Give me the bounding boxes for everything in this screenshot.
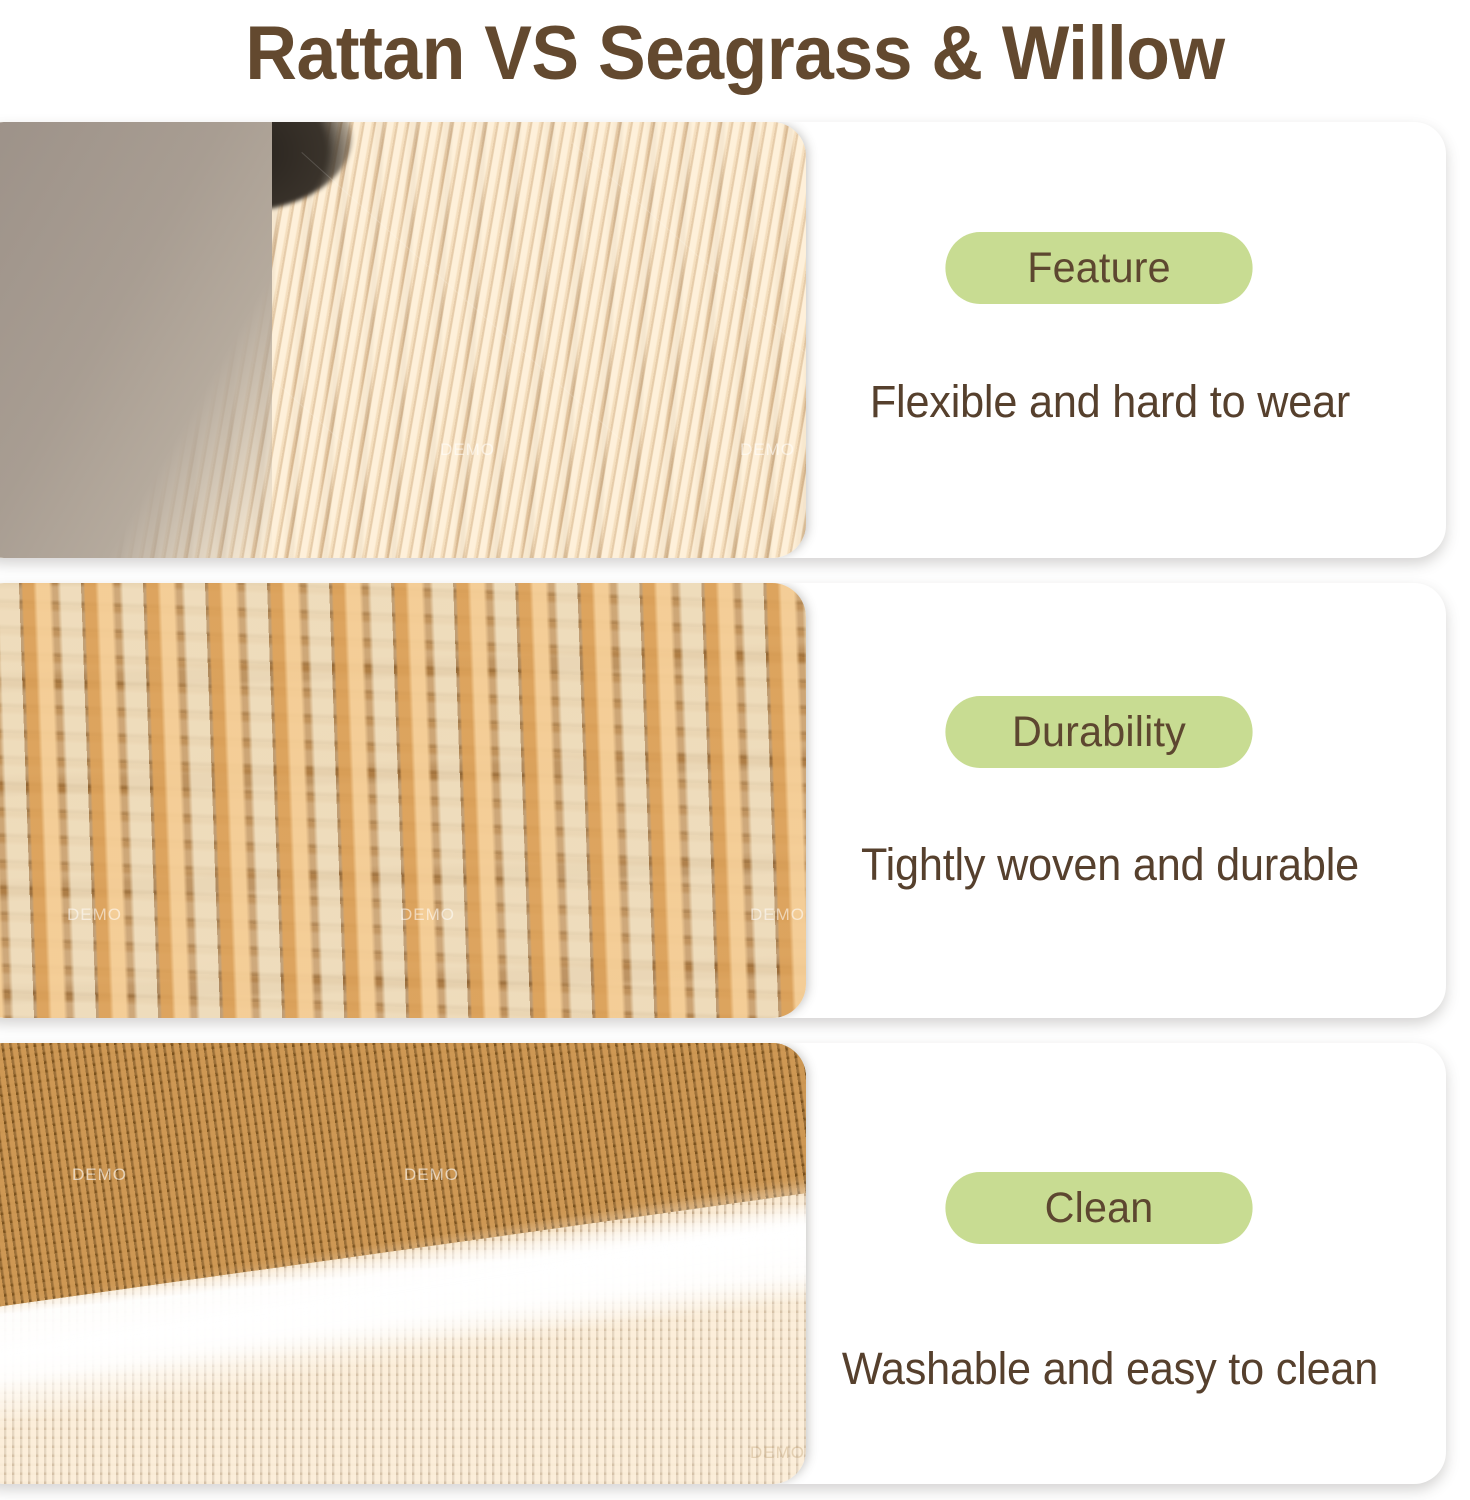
demo-watermark: DEMO	[740, 440, 795, 460]
comparison-card-durability: DEMO DEMO DEMO Durability Tightly woven …	[0, 583, 1446, 1018]
watermark-overlay: DEMO DEMO DEMO	[0, 1043, 806, 1484]
page-title: Rattan VS Seagrass & Willow	[44, 2, 1426, 106]
badge-clean: Clean	[945, 1172, 1252, 1244]
caption-feature: Flexible and hard to wear	[818, 376, 1402, 428]
demo-watermark: DEMO	[90, 440, 145, 460]
watermark-diagonal	[301, 152, 621, 440]
demo-watermark: DEMO	[67, 905, 122, 925]
badge-durability: Durability	[945, 696, 1252, 768]
watermark-diagonal	[571, 142, 806, 430]
card-inner: DEMO DEMO DEMO Feature Flexible and hard…	[0, 122, 1446, 558]
demo-watermark: DEMO	[400, 905, 455, 925]
rattan-cane-bundle-photo: DEMO DEMO DEMO	[0, 122, 806, 558]
card-text-column: Clean Washable and easy to clean	[806, 1043, 1446, 1484]
rattan-basket-fabric-photo: DEMO DEMO DEMO	[0, 1043, 806, 1484]
watermark-overlay: DEMO DEMO DEMO	[0, 583, 806, 1018]
rattan-weave-closeup-photo: DEMO DEMO DEMO	[0, 583, 806, 1018]
demo-watermark: DEMO	[440, 440, 495, 460]
caption-clean: Washable and easy to clean	[818, 1343, 1402, 1395]
comparison-card-clean: DEMO DEMO DEMO Clean Washable and easy t…	[0, 1043, 1446, 1484]
card-inner: DEMO DEMO DEMO Clean Washable and easy t…	[0, 1043, 1446, 1484]
demo-watermark: DEMO	[404, 1165, 459, 1185]
caption-durability: Tightly woven and durable	[818, 839, 1402, 891]
card-inner: DEMO DEMO DEMO Durability Tightly woven …	[0, 583, 1446, 1018]
watermark-overlay: DEMO DEMO DEMO	[0, 122, 806, 558]
badge-feature: Feature	[945, 232, 1252, 304]
demo-watermark: DEMO	[72, 1165, 127, 1185]
demo-watermark: DEMO	[750, 1443, 805, 1463]
card-text-column: Durability Tightly woven and durable	[806, 583, 1446, 1018]
demo-watermark: DEMO	[750, 905, 805, 925]
watermark-diagonal	[31, 162, 351, 450]
card-text-column: Feature Flexible and hard to wear	[806, 122, 1446, 558]
comparison-card-feature: DEMO DEMO DEMO Feature Flexible and hard…	[0, 122, 1446, 558]
